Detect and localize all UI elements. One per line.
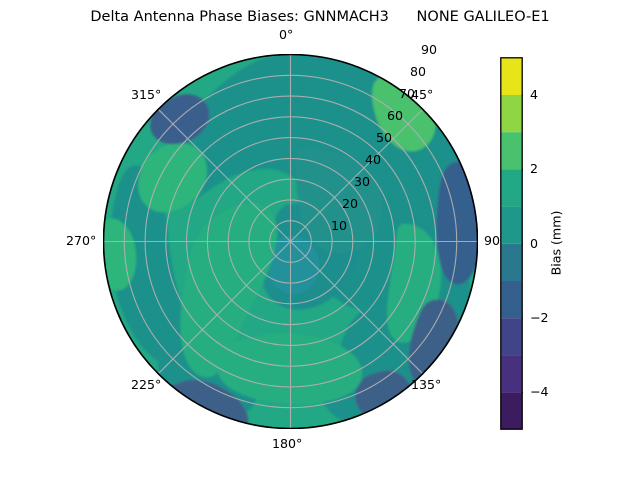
colorbar-gradient [500,57,523,430]
angular-tick-315: 315° [131,88,161,102]
colorbar-tick-minus2: −2 [530,311,549,325]
polar-grid [104,55,478,429]
colorbar-tick-4: 4 [530,88,538,102]
radial-tick-20: 20 [342,197,358,211]
colorbar: 4 2 0 −2 −4 [500,57,523,430]
colorbar-label: Bias (mm) [549,211,564,276]
angular-tick-225: 225° [131,378,161,392]
colorbar-bands [501,58,522,429]
angular-tick-135: 135° [411,378,441,392]
contour-band-blue-east [437,162,478,285]
angular-tick-45: 45° [411,88,433,102]
radial-tick-90: 90 [421,43,437,57]
colorbar-tick-minus4: −4 [530,385,549,399]
radial-tick-40: 40 [365,153,381,167]
polar-plot [103,54,478,429]
angular-tick-90: 90 [484,234,500,248]
angular-tick-180: 180° [272,437,302,451]
page-title: Delta Antenna Phase Biases: GNNMACH3 NON… [0,8,640,26]
colorbar-tick-2: 2 [530,162,538,176]
angular-tick-0: 0° [279,28,293,42]
figure-canvas: Delta Antenna Phase Biases: GNNMACH3 NON… [0,0,640,480]
polar-axes: 10 20 30 40 50 60 70 80 90 [103,54,478,429]
colorbar-tick-0: 0 [530,237,538,251]
radial-tick-30: 30 [354,175,370,189]
radial-tick-50: 50 [376,131,392,145]
radial-tick-80: 80 [410,65,426,79]
angular-tick-270: 270° [66,234,96,248]
radial-tick-60: 60 [387,109,403,123]
radial-tick-10: 10 [331,219,347,233]
